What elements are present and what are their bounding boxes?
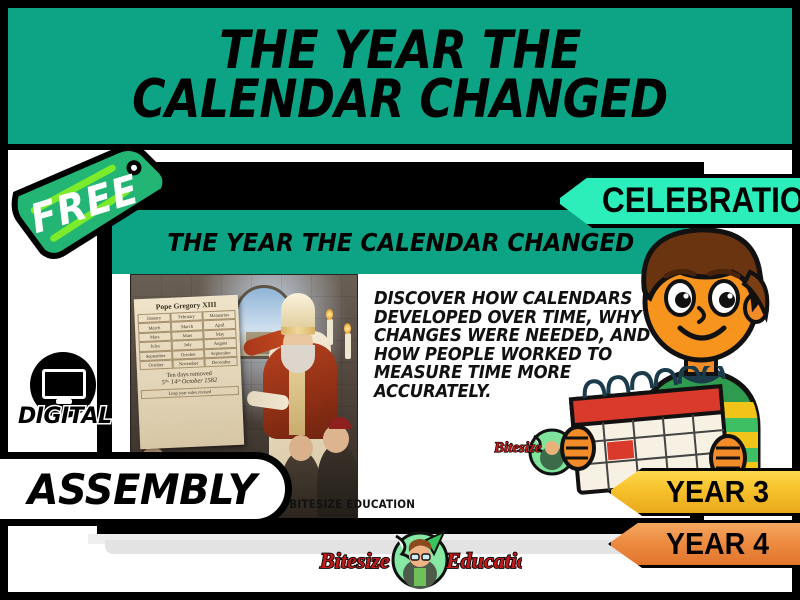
logo-word-right: Education: [445, 548, 522, 573]
bitesize-education-logo-icon: Bitesize Education: [318, 528, 522, 590]
bitesize-education-logo: Bitesize Education: [318, 528, 522, 590]
slide-title: THE YEAR THE CALENDAR CHANGED: [168, 228, 635, 257]
month-grid: January February Manuarius March March A…: [137, 310, 237, 370]
page-title: THE YEAR THE CALENDAR CHANGED: [63, 27, 737, 125]
celebrations-banner: CELEBRATIONS: [556, 174, 800, 228]
month-cell: December: [205, 357, 238, 368]
digital-label: DIGITAL: [18, 404, 108, 429]
month-cell: October: [139, 360, 172, 371]
chart-note-leap-year: Leap year rules revised: [141, 386, 239, 399]
candle-icon: [345, 333, 351, 359]
left-hand: [562, 427, 594, 469]
celebrations-label: CELEBRATIONS: [602, 181, 800, 221]
onlooker-head: [289, 435, 313, 461]
monitor-icon: [42, 369, 86, 399]
month-cell: November: [172, 358, 205, 369]
title-banner: THE YEAR THE CALENDAR CHANGED: [8, 8, 792, 144]
year-4-badge: YEAR 4: [608, 520, 800, 568]
bitesize-word: Bitesize: [494, 440, 542, 456]
year-3-badge: YEAR 3: [608, 468, 800, 516]
calendar-chart: Pope Gregory XIII January February Manua…: [134, 295, 244, 449]
product-thumbnail: THE YEAR THE CALENDAR CHANGED THE YEAR T…: [0, 0, 800, 600]
candle-flame-icon: [326, 309, 333, 320]
mitre-band: [281, 327, 315, 334]
assembly-badge: ASSEMBLY: [0, 452, 292, 526]
logo-word-left: Bitesize: [319, 548, 390, 573]
onlooker-head: [323, 425, 349, 453]
year-3-label: YEAR 3: [666, 474, 769, 510]
year-4-label: YEAR 4: [666, 526, 769, 562]
assembly-label: ASSEMBLY: [0, 465, 256, 514]
digital-badge: DIGITAL: [18, 352, 108, 438]
candle-flame-icon: [344, 323, 351, 334]
